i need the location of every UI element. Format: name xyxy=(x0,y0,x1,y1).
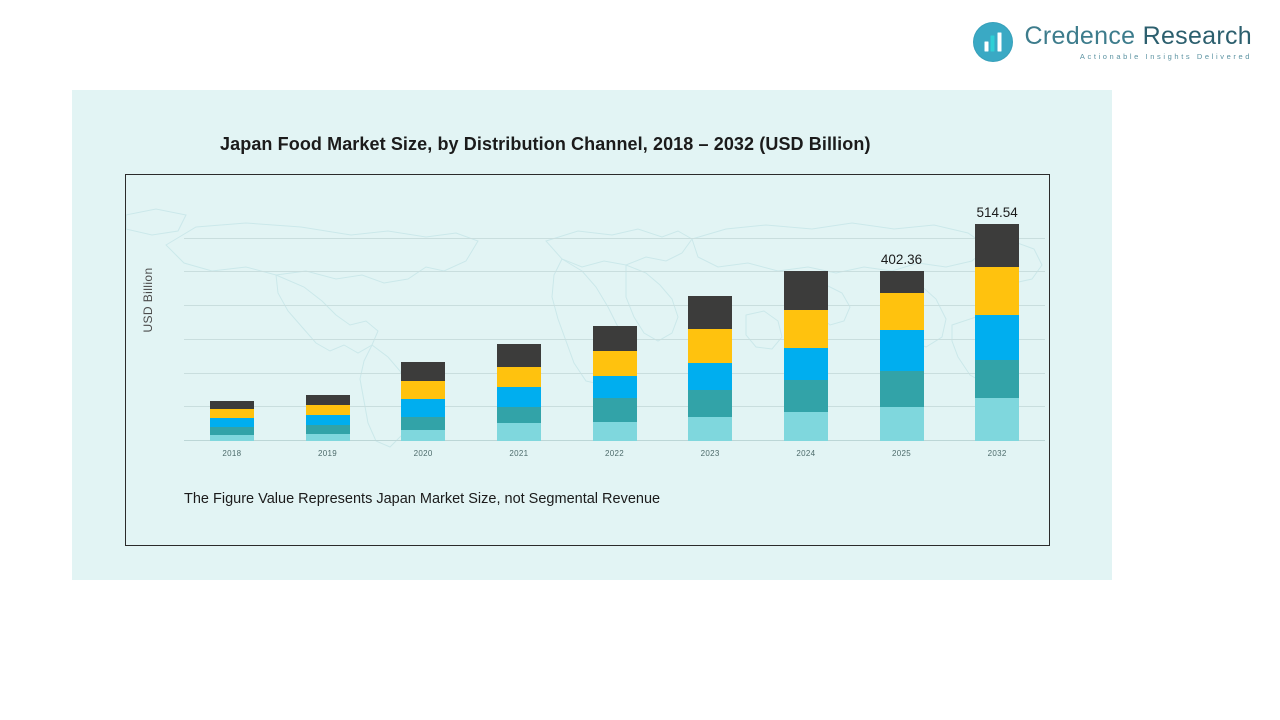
bar-segment-2025-2[interactable] xyxy=(880,330,924,371)
x-axis-tick-2023: 2023 xyxy=(701,449,720,458)
bar-segment-2018-2[interactable] xyxy=(210,418,254,427)
x-axis-tick-2018: 2018 xyxy=(222,449,241,458)
y-axis-label: USD Billion xyxy=(141,240,155,360)
bar-segment-2022-1[interactable] xyxy=(593,398,637,422)
brand-name: Credence Research xyxy=(1025,24,1252,49)
logo-bar-3 xyxy=(997,33,1001,52)
bar-segment-2025-1[interactable] xyxy=(880,371,924,407)
bar-segment-2025-4[interactable] xyxy=(880,271,924,293)
bar-segment-2024-3[interactable] xyxy=(784,310,828,349)
bar-segment-2020-0[interactable] xyxy=(401,430,445,441)
bar-segment-2019-3[interactable] xyxy=(306,405,350,415)
bar-segment-2019-4[interactable] xyxy=(306,395,350,405)
bar-segment-2022-2[interactable] xyxy=(593,376,637,398)
bars-area: 2018201920202021202220232024402.36202551… xyxy=(184,175,1045,464)
plot-area: USD Billion 2018201920202021202220232024… xyxy=(126,175,1049,464)
bar-segment-2023-3[interactable] xyxy=(688,329,732,363)
bar-value-label-2025: 402.36 xyxy=(881,252,922,267)
bar-segment-2024-4[interactable] xyxy=(784,271,828,309)
bar-segment-2032-3[interactable] xyxy=(975,267,1019,315)
bar-segment-2021-4[interactable] xyxy=(497,344,541,367)
bar-column-2018[interactable] xyxy=(210,401,254,441)
brand-logo: Credence Research Actionable Insights De… xyxy=(973,22,1252,62)
bar-column-2022[interactable] xyxy=(593,326,637,441)
brand-name-light: Credence xyxy=(1025,22,1136,50)
bar-segment-2024-1[interactable] xyxy=(784,380,828,412)
bar-segment-2023-2[interactable] xyxy=(688,363,732,390)
bar-segment-2020-1[interactable] xyxy=(401,417,445,430)
bar-column-2020[interactable] xyxy=(401,362,445,441)
bar-segment-2020-2[interactable] xyxy=(401,399,445,417)
bar-segment-2019-0[interactable] xyxy=(306,434,350,441)
bar-segment-2018-3[interactable] xyxy=(210,409,254,418)
x-axis-tick-2032: 2032 xyxy=(988,449,1007,458)
bar-segment-2020-4[interactable] xyxy=(401,362,445,380)
bar-segment-2025-0[interactable] xyxy=(880,407,924,441)
chart-panel: Japan Food Market Size, by Distribution … xyxy=(72,90,1112,580)
bar-segment-2019-2[interactable] xyxy=(306,415,350,425)
bar-segment-2018-1[interactable] xyxy=(210,427,254,434)
x-axis-tick-2021: 2021 xyxy=(509,449,528,458)
bar-column-2021[interactable] xyxy=(497,344,541,441)
bar-segment-2024-2[interactable] xyxy=(784,348,828,379)
brand-tagline: Actionable Insights Delivered xyxy=(1025,53,1252,61)
bar-segment-2024-0[interactable] xyxy=(784,412,828,441)
bar-segment-2022-3[interactable] xyxy=(593,351,637,376)
bar-segment-2023-4[interactable] xyxy=(688,296,732,329)
bar-column-2019[interactable] xyxy=(306,395,350,441)
bar-segment-2021-0[interactable] xyxy=(497,423,541,441)
bar-value-label-2032: 514.54 xyxy=(977,205,1018,220)
bar-segment-2032-2[interactable] xyxy=(975,315,1019,360)
logo-bar-2 xyxy=(991,36,995,52)
x-axis-tick-2024: 2024 xyxy=(796,449,815,458)
bar-segment-2022-0[interactable] xyxy=(593,422,637,441)
page-title: Japan Food Market Size, by Distribution … xyxy=(220,134,871,155)
footnote-frame: The Figure Value Represents Japan Market… xyxy=(125,463,1050,546)
brand-text: Credence Research Actionable Insights De… xyxy=(1025,24,1252,61)
bar-segment-2023-1[interactable] xyxy=(688,390,732,418)
footnote-text: The Figure Value Represents Japan Market… xyxy=(184,491,660,507)
bar-column-2032[interactable]: 514.54 xyxy=(975,224,1019,441)
x-axis-tick-2019: 2019 xyxy=(318,449,337,458)
bar-segment-2018-0[interactable] xyxy=(210,435,254,441)
logo-bar-1 xyxy=(984,42,988,52)
x-axis-tick-2020: 2020 xyxy=(414,449,433,458)
bar-segment-2025-3[interactable] xyxy=(880,293,924,330)
bar-segment-2022-4[interactable] xyxy=(593,326,637,351)
bar-segment-2032-0[interactable] xyxy=(975,398,1019,441)
x-axis-tick-2022: 2022 xyxy=(605,449,624,458)
bar-segment-2032-1[interactable] xyxy=(975,360,1019,398)
x-axis-tick-2025: 2025 xyxy=(892,449,911,458)
bar-segment-2021-2[interactable] xyxy=(497,387,541,407)
logo-bars xyxy=(984,33,1001,52)
bar-segment-2018-4[interactable] xyxy=(210,401,254,409)
bar-segment-2023-0[interactable] xyxy=(688,417,732,441)
bar-column-2025[interactable]: 402.36 xyxy=(880,271,924,441)
bar-segment-2021-1[interactable] xyxy=(497,407,541,423)
bar-segment-2019-1[interactable] xyxy=(306,425,350,433)
bar-segment-2020-3[interactable] xyxy=(401,381,445,399)
bar-segment-2021-3[interactable] xyxy=(497,367,541,387)
bar-segment-2032-4[interactable] xyxy=(975,224,1019,267)
bar-column-2023[interactable] xyxy=(688,296,732,441)
plot-frame: USD Billion 2018201920202021202220232024… xyxy=(125,174,1050,465)
brand-name-bold: Research xyxy=(1135,22,1252,50)
bar-chart-circle-icon xyxy=(973,22,1013,62)
bar-column-2024[interactable] xyxy=(784,271,828,441)
